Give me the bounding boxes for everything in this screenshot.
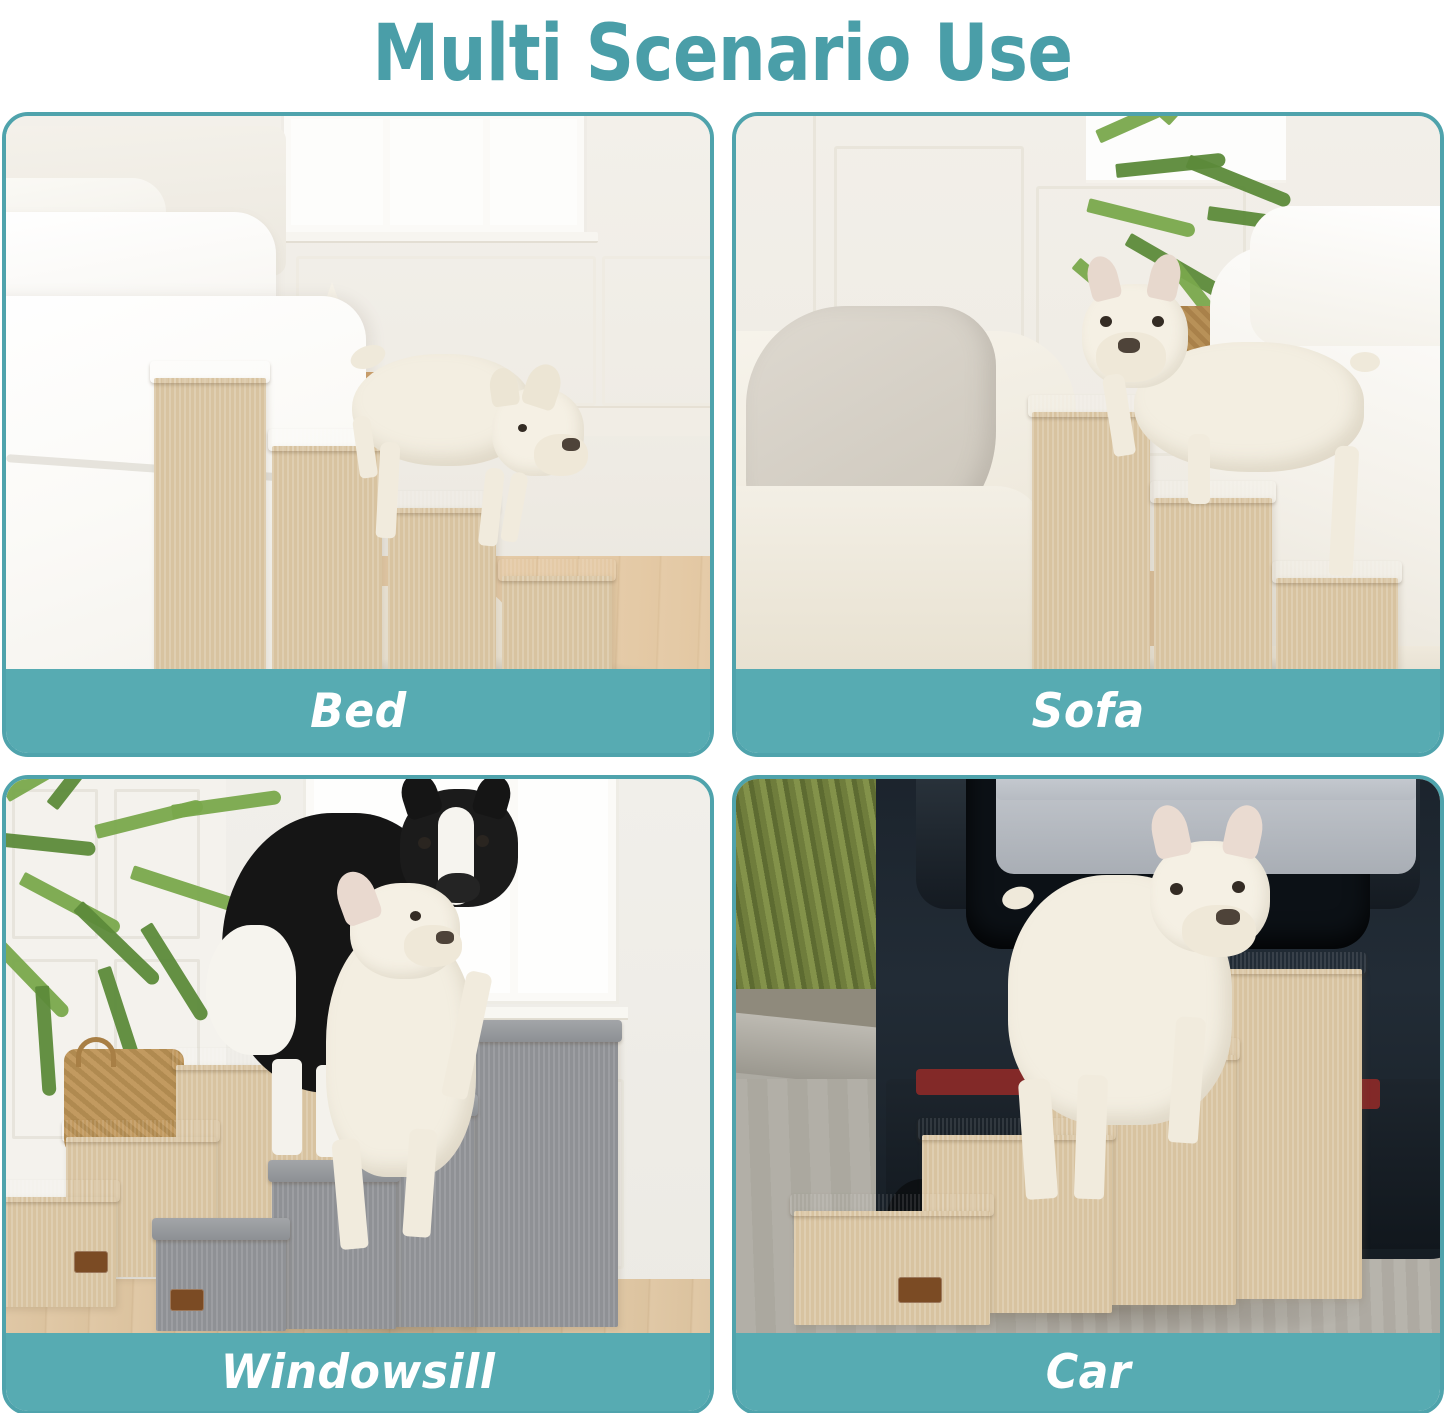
wall-molding: [602, 256, 710, 406]
scenario-panel-bed[interactable]: Bed: [2, 112, 714, 757]
panel-caption-bed: Bed: [6, 669, 710, 753]
wall-molding: [736, 116, 816, 336]
brand-logo-tag: [898, 1277, 942, 1303]
window-sill: [274, 232, 598, 243]
brand-logo-tag: [170, 1289, 204, 1311]
pet-stairs-step-1: [1276, 578, 1398, 669]
caption-text-sofa: Sofa: [1031, 684, 1144, 739]
panel-caption-windowsill: Windowsill: [6, 1333, 710, 1411]
photo-sofa: [736, 116, 1440, 669]
photo-car: [736, 779, 1440, 1333]
pet-stairs-step-1: [502, 576, 612, 669]
brand-logo-tag: [74, 1251, 108, 1273]
caption-text-bed: Bed: [310, 684, 407, 739]
pet-stairs-step-1: [794, 1211, 990, 1325]
caption-text-windowsill: Windowsill: [221, 1345, 496, 1400]
sofa-seat: [736, 486, 1046, 669]
pillow: [1250, 206, 1440, 346]
pet-stairs-gray-step-2: [272, 1177, 396, 1329]
caption-text-car: Car: [1045, 1345, 1130, 1400]
photo-windowsill: [6, 779, 710, 1333]
pet-stairs-gray-step-4: [458, 1037, 618, 1327]
scenario-panel-windowsill[interactable]: Windowsill: [2, 775, 714, 1413]
pet-stairs-gray-step-1: [156, 1235, 286, 1331]
pet-stairs-step-2: [1154, 498, 1272, 669]
scenario-panel-sofa[interactable]: Sofa: [732, 112, 1444, 757]
photo-bed: [6, 116, 710, 669]
panel-caption-sofa: Sofa: [736, 669, 1440, 753]
scenario-grid: Bed: [0, 112, 1445, 1413]
pet-stairs-step-4: [154, 378, 266, 669]
page-title: Multi Scenario Use: [101, 0, 1344, 112]
panel-caption-car: Car: [736, 1333, 1440, 1411]
pet-stairs-step-3: [272, 446, 382, 669]
scenario-panel-car[interactable]: Car: [732, 775, 1444, 1413]
window: [284, 116, 584, 232]
